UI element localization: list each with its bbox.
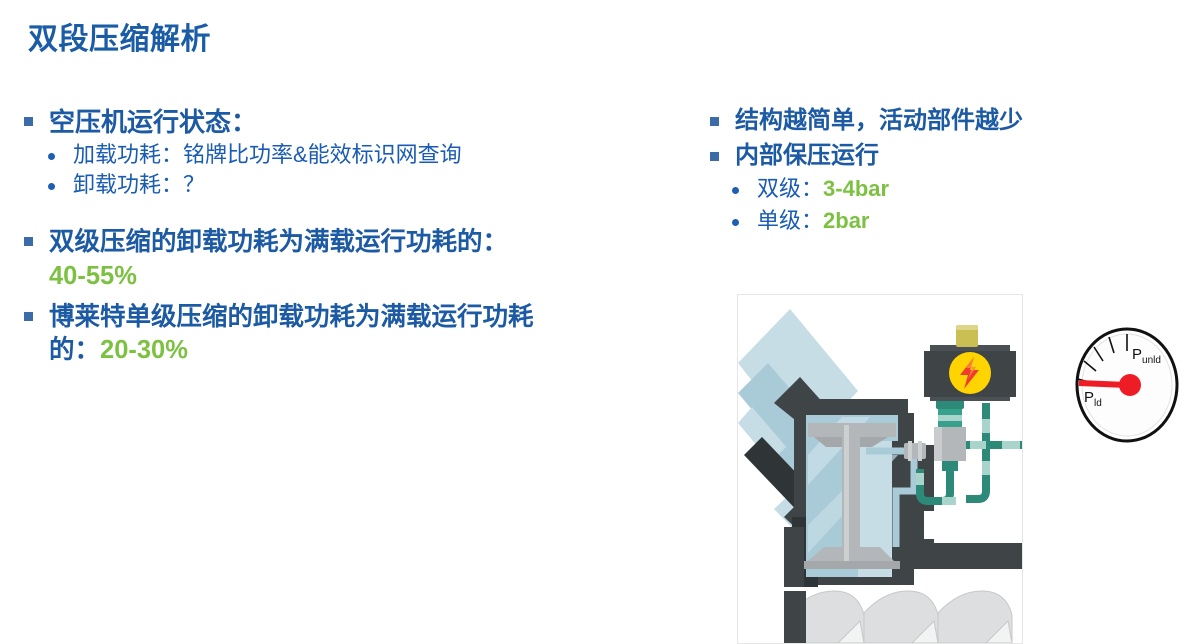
screw-rotor-group: [784, 591, 1022, 643]
bullet-label: 内部保压运行: [735, 141, 879, 172]
square-bullet-icon: [710, 117, 719, 126]
bullet-simpler-structure: 结构越简单，活动部件越少: [700, 106, 1190, 137]
value-single-stage-ratio: 20-30%: [100, 336, 188, 364]
bullet-label: 博莱特单级压缩的卸载功耗为满载运行功耗: [49, 303, 534, 331]
value-two-stage-pressure: 3-4bar: [823, 176, 889, 201]
page-title: 双段压缩解析: [28, 14, 211, 58]
pipe-fitting-icon: [904, 441, 926, 461]
left-block-compressor-status: 空压机运行状态： 加载功耗：铭牌比功率&能效标识网查询 卸载功耗：？: [14, 106, 714, 199]
compressor-inlet-valve-image: [737, 294, 1023, 644]
value-two-stage-ratio: 40-55%: [49, 262, 137, 290]
square-bullet-icon: [710, 152, 719, 161]
square-bullet-icon: [24, 312, 33, 321]
gauge-label-unload-main: P: [1132, 346, 1142, 363]
bullet-label-group: 双级压缩的卸载功耗为满载运行功耗的： 40-55%: [49, 226, 508, 292]
left-content-column: 空压机运行状态： 加载功耗：铭牌比功率&能效标识网查询 卸载功耗：？ 双级压缩的…: [14, 106, 714, 369]
right-content-column: 结构越简单，活动部件越少 内部保压运行 双级：3-4bar 单级：2bar: [700, 106, 1190, 239]
spacer: [14, 200, 714, 226]
gauge-label-load-sub: ld: [1094, 398, 1102, 409]
sub-bullet-label: 加载功耗：铭牌比功率&能效标识网查询: [73, 141, 462, 170]
bullet-single-stage-unload-ratio: 博莱特单级压缩的卸载功耗为满载运行功耗 的：20-30%: [14, 301, 714, 367]
bullet-internal-pressure-hold: 内部保压运行: [700, 141, 1190, 172]
bullet-label: 空压机运行状态：: [49, 106, 257, 139]
bullet-compressor-status: 空压机运行状态：: [14, 106, 714, 139]
pressure-regulator-group: [934, 399, 966, 471]
dot-bullet-icon: [48, 183, 55, 190]
sub-bullet-label-group: 双级：3-4bar: [757, 175, 889, 204]
bullet-two-stage-unload-ratio: 双级压缩的卸载功耗为满载运行功耗的： 40-55%: [14, 226, 714, 292]
gauge-label-load-main: P: [1084, 389, 1094, 406]
compressor-diagram-svg: [738, 295, 1022, 643]
sub-bullet-two-stage-pressure: 双级：3-4bar: [700, 175, 1190, 204]
pressure-gauge-svg: Punld Pld: [1068, 325, 1186, 445]
bullet-label-continued: 的：: [49, 336, 100, 364]
bullet-label: 结构越简单，活动部件越少: [735, 106, 1023, 137]
bullet-label-group: 博莱特单级压缩的卸载功耗为满载运行功耗 的：20-30%: [49, 301, 534, 367]
square-bullet-icon: [24, 237, 33, 246]
sub-bullet-label-group: 单级：2bar: [757, 207, 870, 236]
dot-bullet-icon: [732, 219, 739, 226]
gauge-label-unload-sub: unld: [1142, 355, 1161, 366]
value-single-stage-pressure: 2bar: [823, 208, 869, 233]
sub-bullet-load-power: 加载功耗：铭牌比功率&能效标识网查询: [14, 141, 714, 170]
bullet-label: 双级压缩的卸载功耗为满载运行功耗的：: [49, 228, 508, 256]
sub-bullet-label: 双级：: [757, 176, 823, 201]
sub-bullet-unload-power: 卸载功耗：？: [14, 171, 714, 200]
square-bullet-icon: [24, 117, 33, 126]
pressure-gauge: Punld Pld: [1068, 325, 1186, 445]
dot-bullet-icon: [732, 187, 739, 194]
sub-bullet-single-stage-pressure: 单级：2bar: [700, 207, 1190, 236]
left-block-unload-ratios: 双级压缩的卸载功耗为满载运行功耗的： 40-55% 博莱特单级压缩的卸载功耗为满…: [14, 226, 714, 367]
dot-bullet-icon: [48, 153, 55, 160]
sub-bullet-label: 单级：: [757, 208, 823, 233]
gauge-hub: [1119, 374, 1141, 396]
sub-bullet-label: 卸载功耗：？: [73, 171, 205, 200]
solenoid-valve-group: [924, 325, 1016, 401]
